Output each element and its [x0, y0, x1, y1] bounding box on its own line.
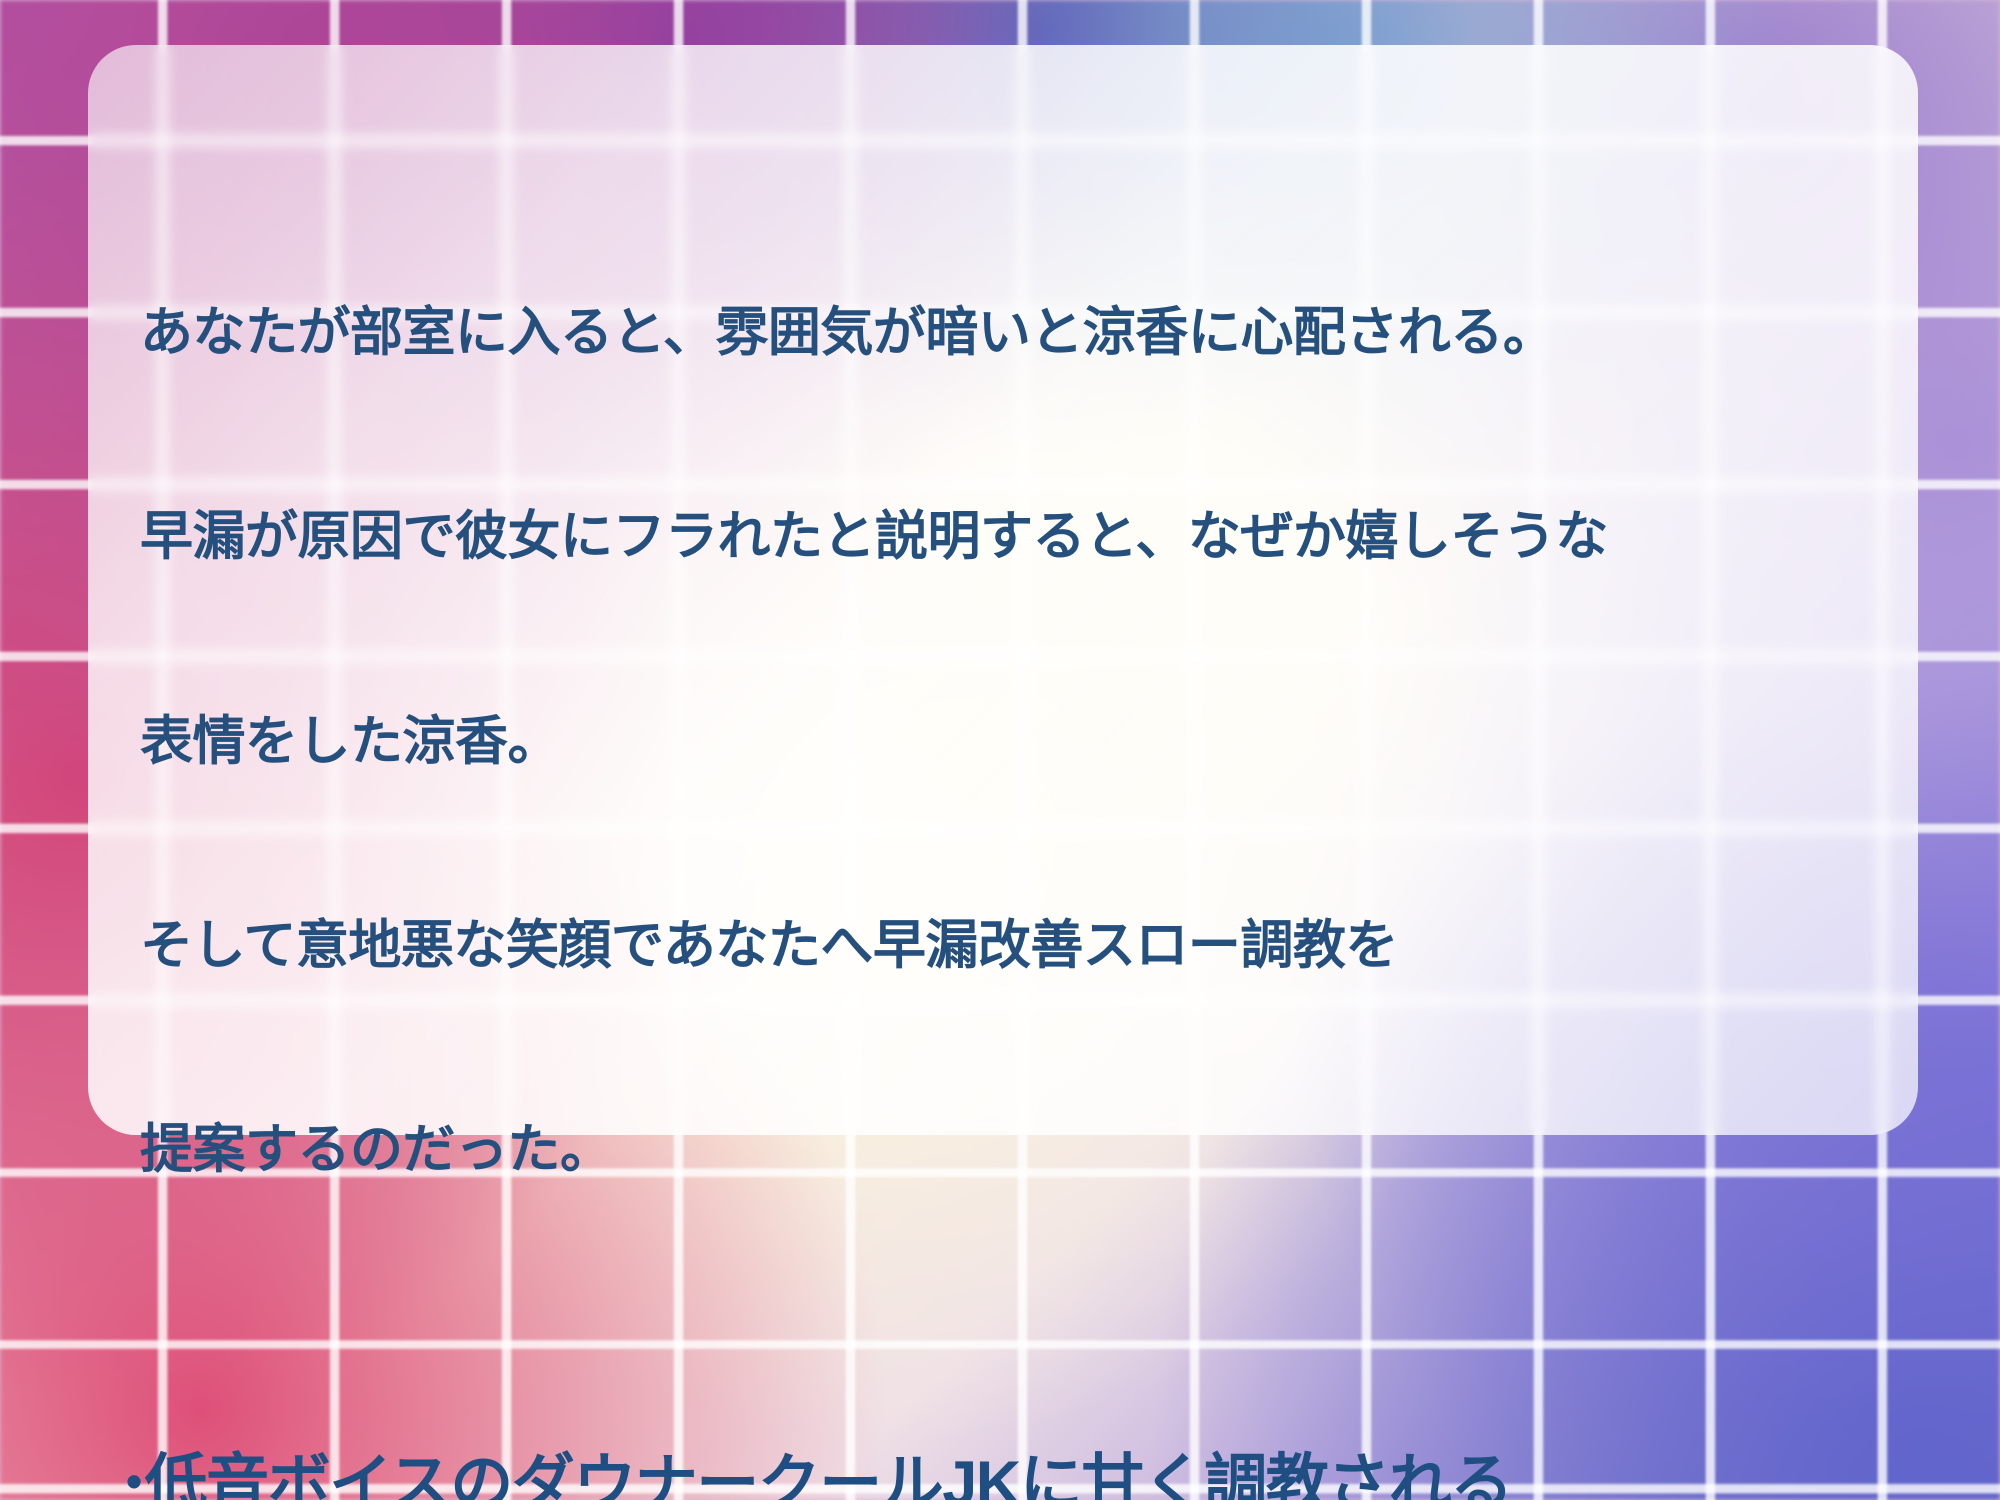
feature-label: 低音ボイスのダウナークールJKに甘く調教される: [145, 1439, 1512, 1500]
card-inner: あなたが部室に入ると、雰囲気が暗いと涼香に心配される。 早漏が原因で彼女にフラれ…: [88, 45, 1918, 1135]
story-line-4: そして意地悪な笑顔であなたへ早漏改善スロー調教を: [140, 912, 1918, 980]
story-paragraph: あなたが部室に入ると、雰囲気が暗いと涼香に心配される。 早漏が原因で彼女にフラれ…: [140, 163, 1918, 1321]
bullet-dot-icon: •: [126, 1458, 141, 1500]
story-line-3: 表情をした涼香。: [140, 708, 1918, 776]
story-line-1: あなたが部室に入ると、雰囲気が暗いと涼香に心配される。: [140, 299, 1918, 367]
story-line-2: 早漏が原因で彼女にフラれたと説明すると、なぜか嬉しそうな: [140, 503, 1918, 571]
feature-list: • 低音ボイスのダウナークールJKに甘く調教される • 下品ではしたない淫語で徹…: [140, 1439, 1918, 1500]
promo-slide: あなたが部室に入ると、雰囲気が暗いと涼香に心配される。 早漏が原因で彼女にフラれ…: [0, 0, 2000, 1500]
frosted-content-card: あなたが部室に入ると、雰囲気が暗いと涼香に心配される。 早漏が原因で彼女にフラれ…: [88, 45, 1918, 1135]
list-item: • 低音ボイスのダウナークールJKに甘く調教される: [126, 1439, 1918, 1500]
story-line-5: 提案するのだった。: [140, 1116, 1918, 1184]
